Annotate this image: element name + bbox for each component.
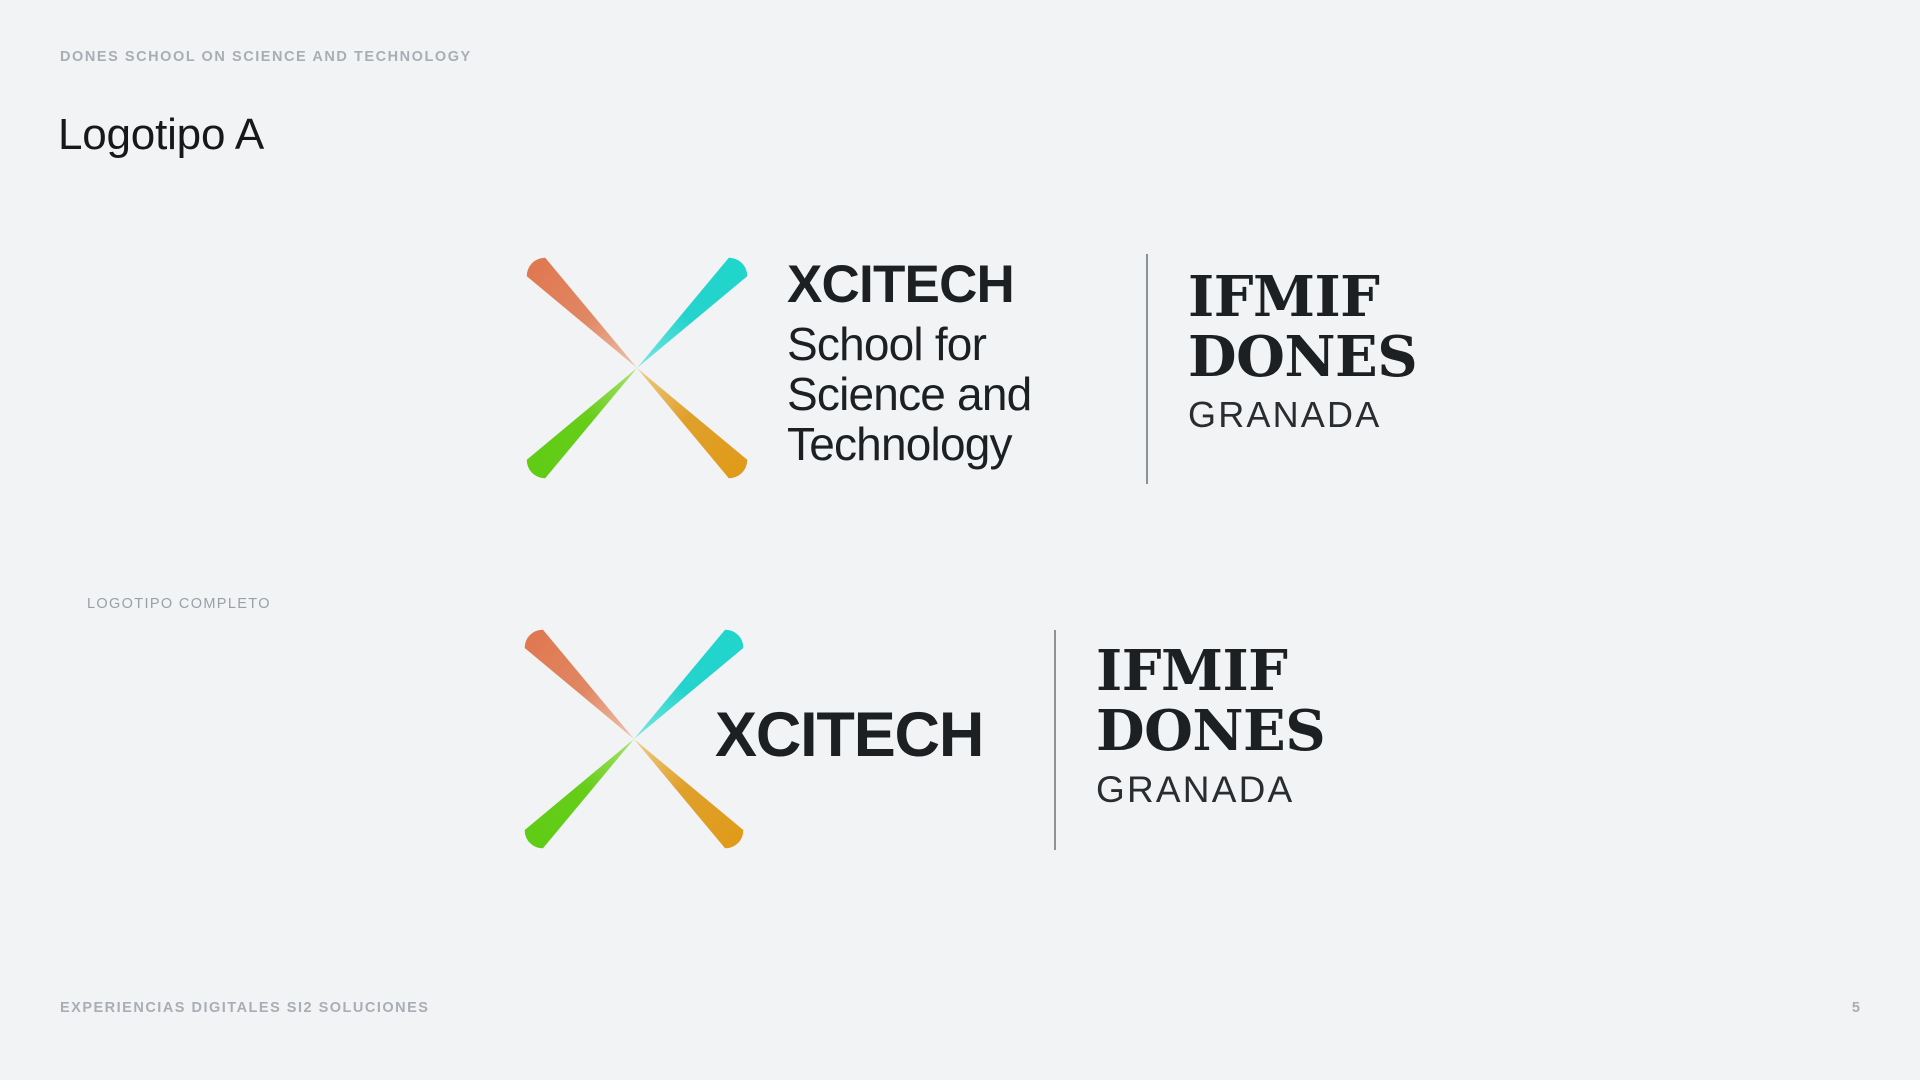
page-number: 5 xyxy=(1852,1000,1860,1016)
xcitech-wordmark-reduced: XCITECH xyxy=(715,704,983,767)
tagline-line-3: Technology xyxy=(787,421,1031,467)
page-title: Logotipo A xyxy=(58,110,264,160)
xcitech-lockup-complete: XCITECH School for Science and Technolog… xyxy=(787,258,1031,467)
tagline-line-2: Science and xyxy=(787,371,1031,417)
ifmif-dones-granada-lockup: IFMIF DONES GRANADA xyxy=(1188,270,1417,433)
xcitech-lockup-reduced: XCITECH xyxy=(715,704,983,767)
tagline-line-1: School for xyxy=(787,321,1031,367)
slide-eyebrow: DONES SCHOOL ON SCIENCE AND TECHNOLOGY xyxy=(60,49,472,65)
lockup-divider xyxy=(1146,254,1148,484)
dones-line: DONES xyxy=(1188,330,1417,385)
granada-line: GRANADA xyxy=(1188,397,1417,433)
ifmif-line: IFMIF xyxy=(1188,270,1417,325)
ifmif-dones-granada-lockup-reduced: IFMIF DONES GRANADA xyxy=(1096,644,1325,808)
ifmif-line-reduced: IFMIF xyxy=(1096,644,1325,699)
xcitech-x-mark-icon xyxy=(517,248,757,488)
xcitech-tagline: School for Science and Technology xyxy=(787,321,1031,467)
xcitech-wordmark: XCITECH xyxy=(787,258,1031,311)
lockup-divider-reduced xyxy=(1054,630,1056,850)
dones-line-reduced: DONES xyxy=(1096,704,1325,759)
footer-credit: EXPERIENCIAS DIGITALES SI2 SOLUCIONES xyxy=(60,1000,429,1016)
slide-canvas: DONES SCHOOL ON SCIENCE AND TECHNOLOGY L… xyxy=(0,0,1920,1080)
granada-line-reduced: GRANADA xyxy=(1096,771,1325,808)
